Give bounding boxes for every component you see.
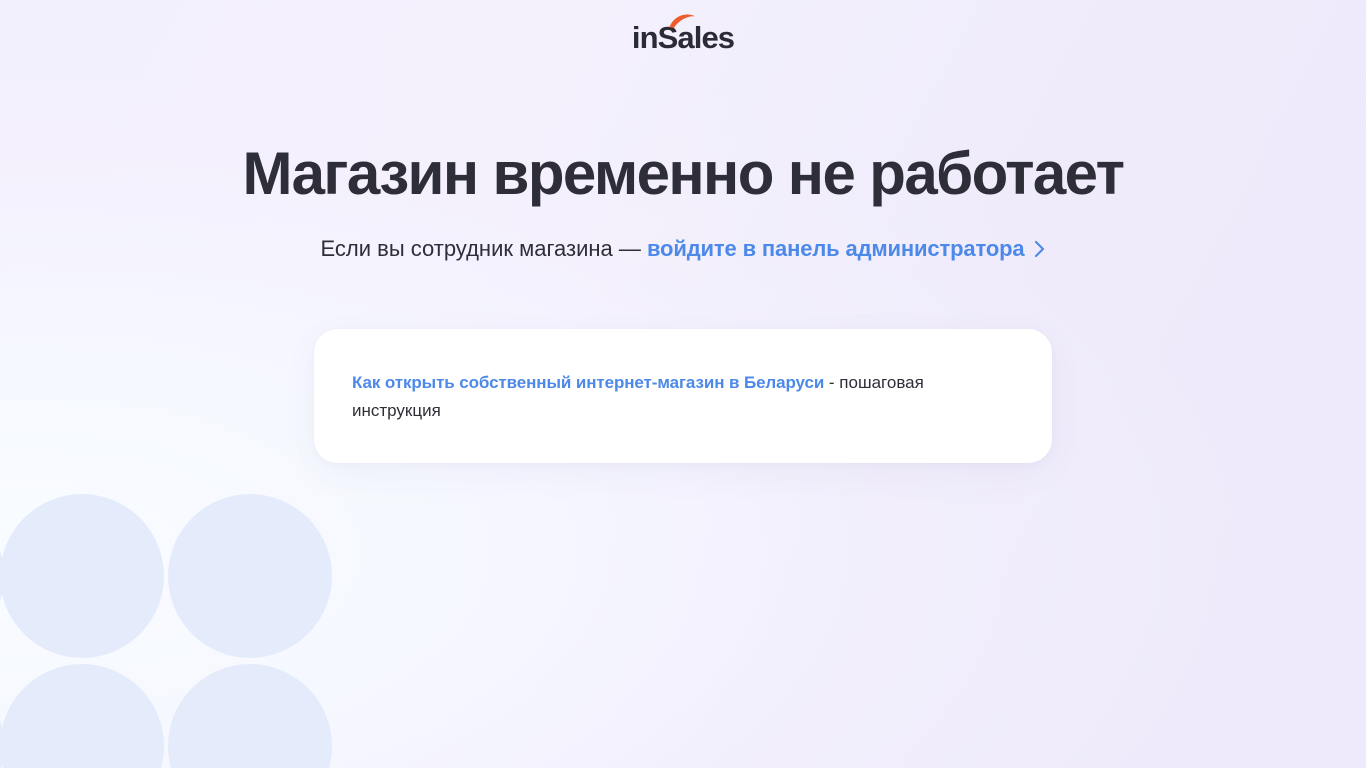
- page-root: inSales Магазин временно не работает Есл…: [0, 0, 1366, 768]
- info-card-text: Как открыть собственный интернет-магазин…: [352, 369, 1014, 424]
- info-card: Как открыть собственный интернет-магазин…: [314, 329, 1052, 463]
- brand-logo: inSales: [0, 22, 1366, 53]
- admin-notice: Если вы сотрудник магазина — войдите в п…: [0, 234, 1366, 267]
- chevron-right-icon[interactable]: [1034, 236, 1046, 267]
- admin-notice-text: Если вы сотрудник магазина —: [320, 236, 647, 261]
- logo-text: inSales: [632, 20, 734, 55]
- logo-wordmark: inSales: [632, 22, 734, 53]
- page-title: Магазин временно не работает: [0, 140, 1366, 207]
- admin-panel-link[interactable]: войдите в панель администратора: [647, 236, 1025, 261]
- guide-link[interactable]: Как открыть собственный интернет-магазин…: [352, 373, 824, 392]
